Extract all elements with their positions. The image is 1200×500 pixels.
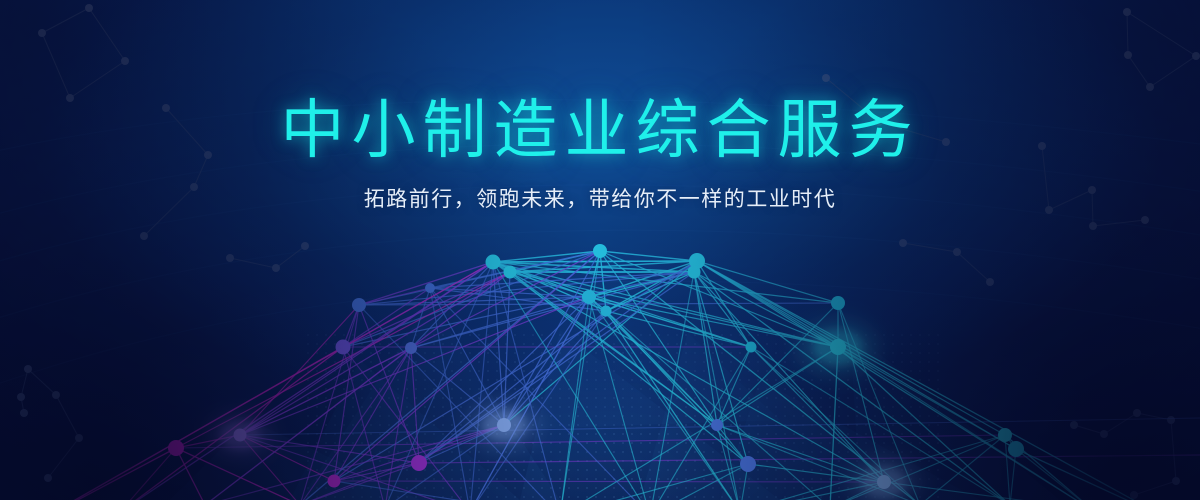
dome-edge	[343, 347, 470, 500]
dome-edge	[334, 481, 884, 482]
dome-node	[1008, 441, 1024, 457]
wireframe-dome-network	[0, 0, 1200, 500]
dome-edge	[697, 261, 1170, 500]
dome-edge	[120, 448, 176, 500]
dome-node	[168, 440, 184, 456]
dome-node	[411, 455, 427, 471]
dome-node	[425, 283, 435, 293]
dome-edge	[717, 425, 740, 500]
node-core	[831, 296, 845, 310]
dome-node	[796, 318, 879, 376]
page-subtitle: 拓路前行，领跑未来，带给你不一样的工业时代	[0, 183, 1200, 213]
dome-edge	[343, 251, 600, 347]
node-core	[425, 283, 435, 293]
dome-edge	[560, 297, 589, 500]
dome-node	[486, 255, 501, 270]
dome-node	[593, 244, 607, 258]
node-core	[352, 298, 366, 312]
node-core	[234, 429, 247, 442]
dome-node	[328, 475, 341, 488]
dome-edge	[920, 435, 1005, 500]
dome-node	[601, 306, 612, 317]
dome-node	[746, 342, 757, 353]
dome-edge	[600, 251, 697, 261]
node-core	[601, 306, 612, 317]
dome-edge	[300, 348, 411, 500]
dome-edge	[694, 272, 751, 347]
dome-edge	[40, 448, 176, 500]
dome-node	[352, 298, 366, 312]
dome-node	[206, 412, 274, 459]
dome-edge	[884, 482, 1170, 500]
dome-node	[740, 456, 756, 472]
node-core	[582, 290, 596, 304]
dome-edge	[697, 261, 838, 303]
dome-edge	[694, 272, 740, 500]
dome-edge	[694, 272, 717, 425]
dome-edge	[510, 272, 717, 425]
node-core	[830, 339, 846, 355]
dome-node	[831, 296, 845, 310]
dome-edge	[334, 481, 560, 500]
node-core	[411, 455, 427, 471]
dome-node	[998, 428, 1012, 442]
node-core	[504, 266, 517, 279]
node-core	[593, 244, 607, 258]
node-core	[497, 418, 511, 432]
node-core	[711, 419, 723, 431]
hero-banner: 中小制造业综合服务 拓路前行，领跑未来，带给你不一样的工业时代	[0, 0, 1200, 500]
node-core	[486, 255, 501, 270]
page-title: 中小制造业综合服务	[0, 96, 1200, 165]
dome-node	[468, 400, 541, 450]
dome-node	[582, 290, 596, 304]
dome-edge	[419, 272, 694, 463]
dome-edge	[176, 448, 205, 500]
dome-node	[711, 419, 723, 431]
node-core	[405, 342, 417, 354]
dome-node	[688, 266, 701, 279]
node-core	[877, 475, 891, 489]
dome-node	[504, 266, 517, 279]
dome-edge	[606, 311, 751, 347]
dome-edge	[40, 448, 176, 500]
dome-edge	[176, 435, 1005, 448]
node-core	[336, 340, 351, 355]
node-core	[998, 428, 1012, 442]
node-core	[740, 456, 756, 472]
dome-node	[336, 340, 351, 355]
node-core	[168, 440, 184, 456]
node-core	[746, 342, 757, 353]
node-core	[328, 475, 341, 488]
hero-text-block: 中小制造业综合服务 拓路前行，领跑未来，带给你不一样的工业时代	[0, 96, 1200, 213]
node-core	[688, 266, 701, 279]
dome-node	[405, 342, 417, 354]
node-core	[1008, 441, 1024, 457]
